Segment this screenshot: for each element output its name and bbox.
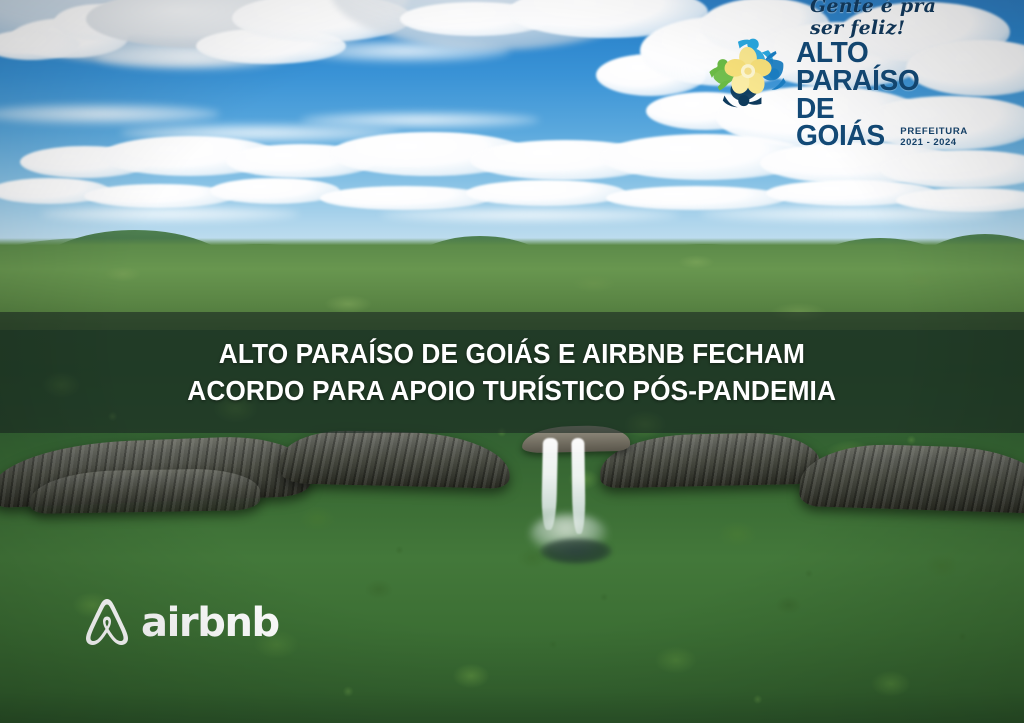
- cloud: [700, 206, 1000, 222]
- airbnb-logo: airbnb: [82, 596, 279, 653]
- cloud: [466, 180, 626, 206]
- cloud: [300, 112, 540, 128]
- canyon-cliff: [799, 442, 1024, 514]
- airbnb-wordmark: airbnb: [141, 603, 279, 646]
- banner-title-line-1: ALTO PARAÍSO DE GOIÁS E AIRBNB FECHAM: [219, 338, 805, 370]
- waterfall-plunge-pool: [540, 538, 612, 564]
- city-name-row-2: DE GOIÁS PREFEITURA 2021 - 2024: [796, 96, 968, 152]
- city-name-line-1: ALTO PARAÍSO: [796, 40, 963, 96]
- cloud: [320, 186, 490, 210]
- city-logo-text: Gente é pra ser feliz! ALTO PARAÍSO DE G…: [796, 0, 968, 151]
- city-tagline: Gente é pra ser feliz!: [810, 0, 968, 39]
- cloud: [40, 206, 300, 222]
- banner-title-line-2: ACORDO PARA APOIO TURÍSTICO PÓS-PANDEMIA: [188, 375, 837, 407]
- city-prefeitura-block: PREFEITURA 2021 - 2024: [900, 127, 968, 151]
- city-logo: Gente é pra ser feliz! ALTO PARAÍSO DE G…: [706, 22, 968, 122]
- prefeitura-years: 2021 - 2024: [900, 138, 968, 149]
- twin-waterfalls: [528, 438, 648, 558]
- belo-icon: [82, 596, 132, 653]
- title-banner: ALTO PARAÍSO DE GOIÁS E AIRBNB FECHAM AC…: [0, 312, 1024, 433]
- prefeitura-label: PREFEITURA: [900, 126, 968, 137]
- city-name-line-2: DE GOIÁS: [796, 96, 891, 152]
- promotional-image: ALTO PARAÍSO DE GOIÁS E AIRBNB FECHAM AC…: [0, 0, 1024, 723]
- cloud: [0, 104, 220, 124]
- cloud: [380, 208, 680, 222]
- city-emblem-icon: [706, 30, 790, 114]
- cliff-striations: [799, 442, 1024, 514]
- cloud: [606, 186, 786, 210]
